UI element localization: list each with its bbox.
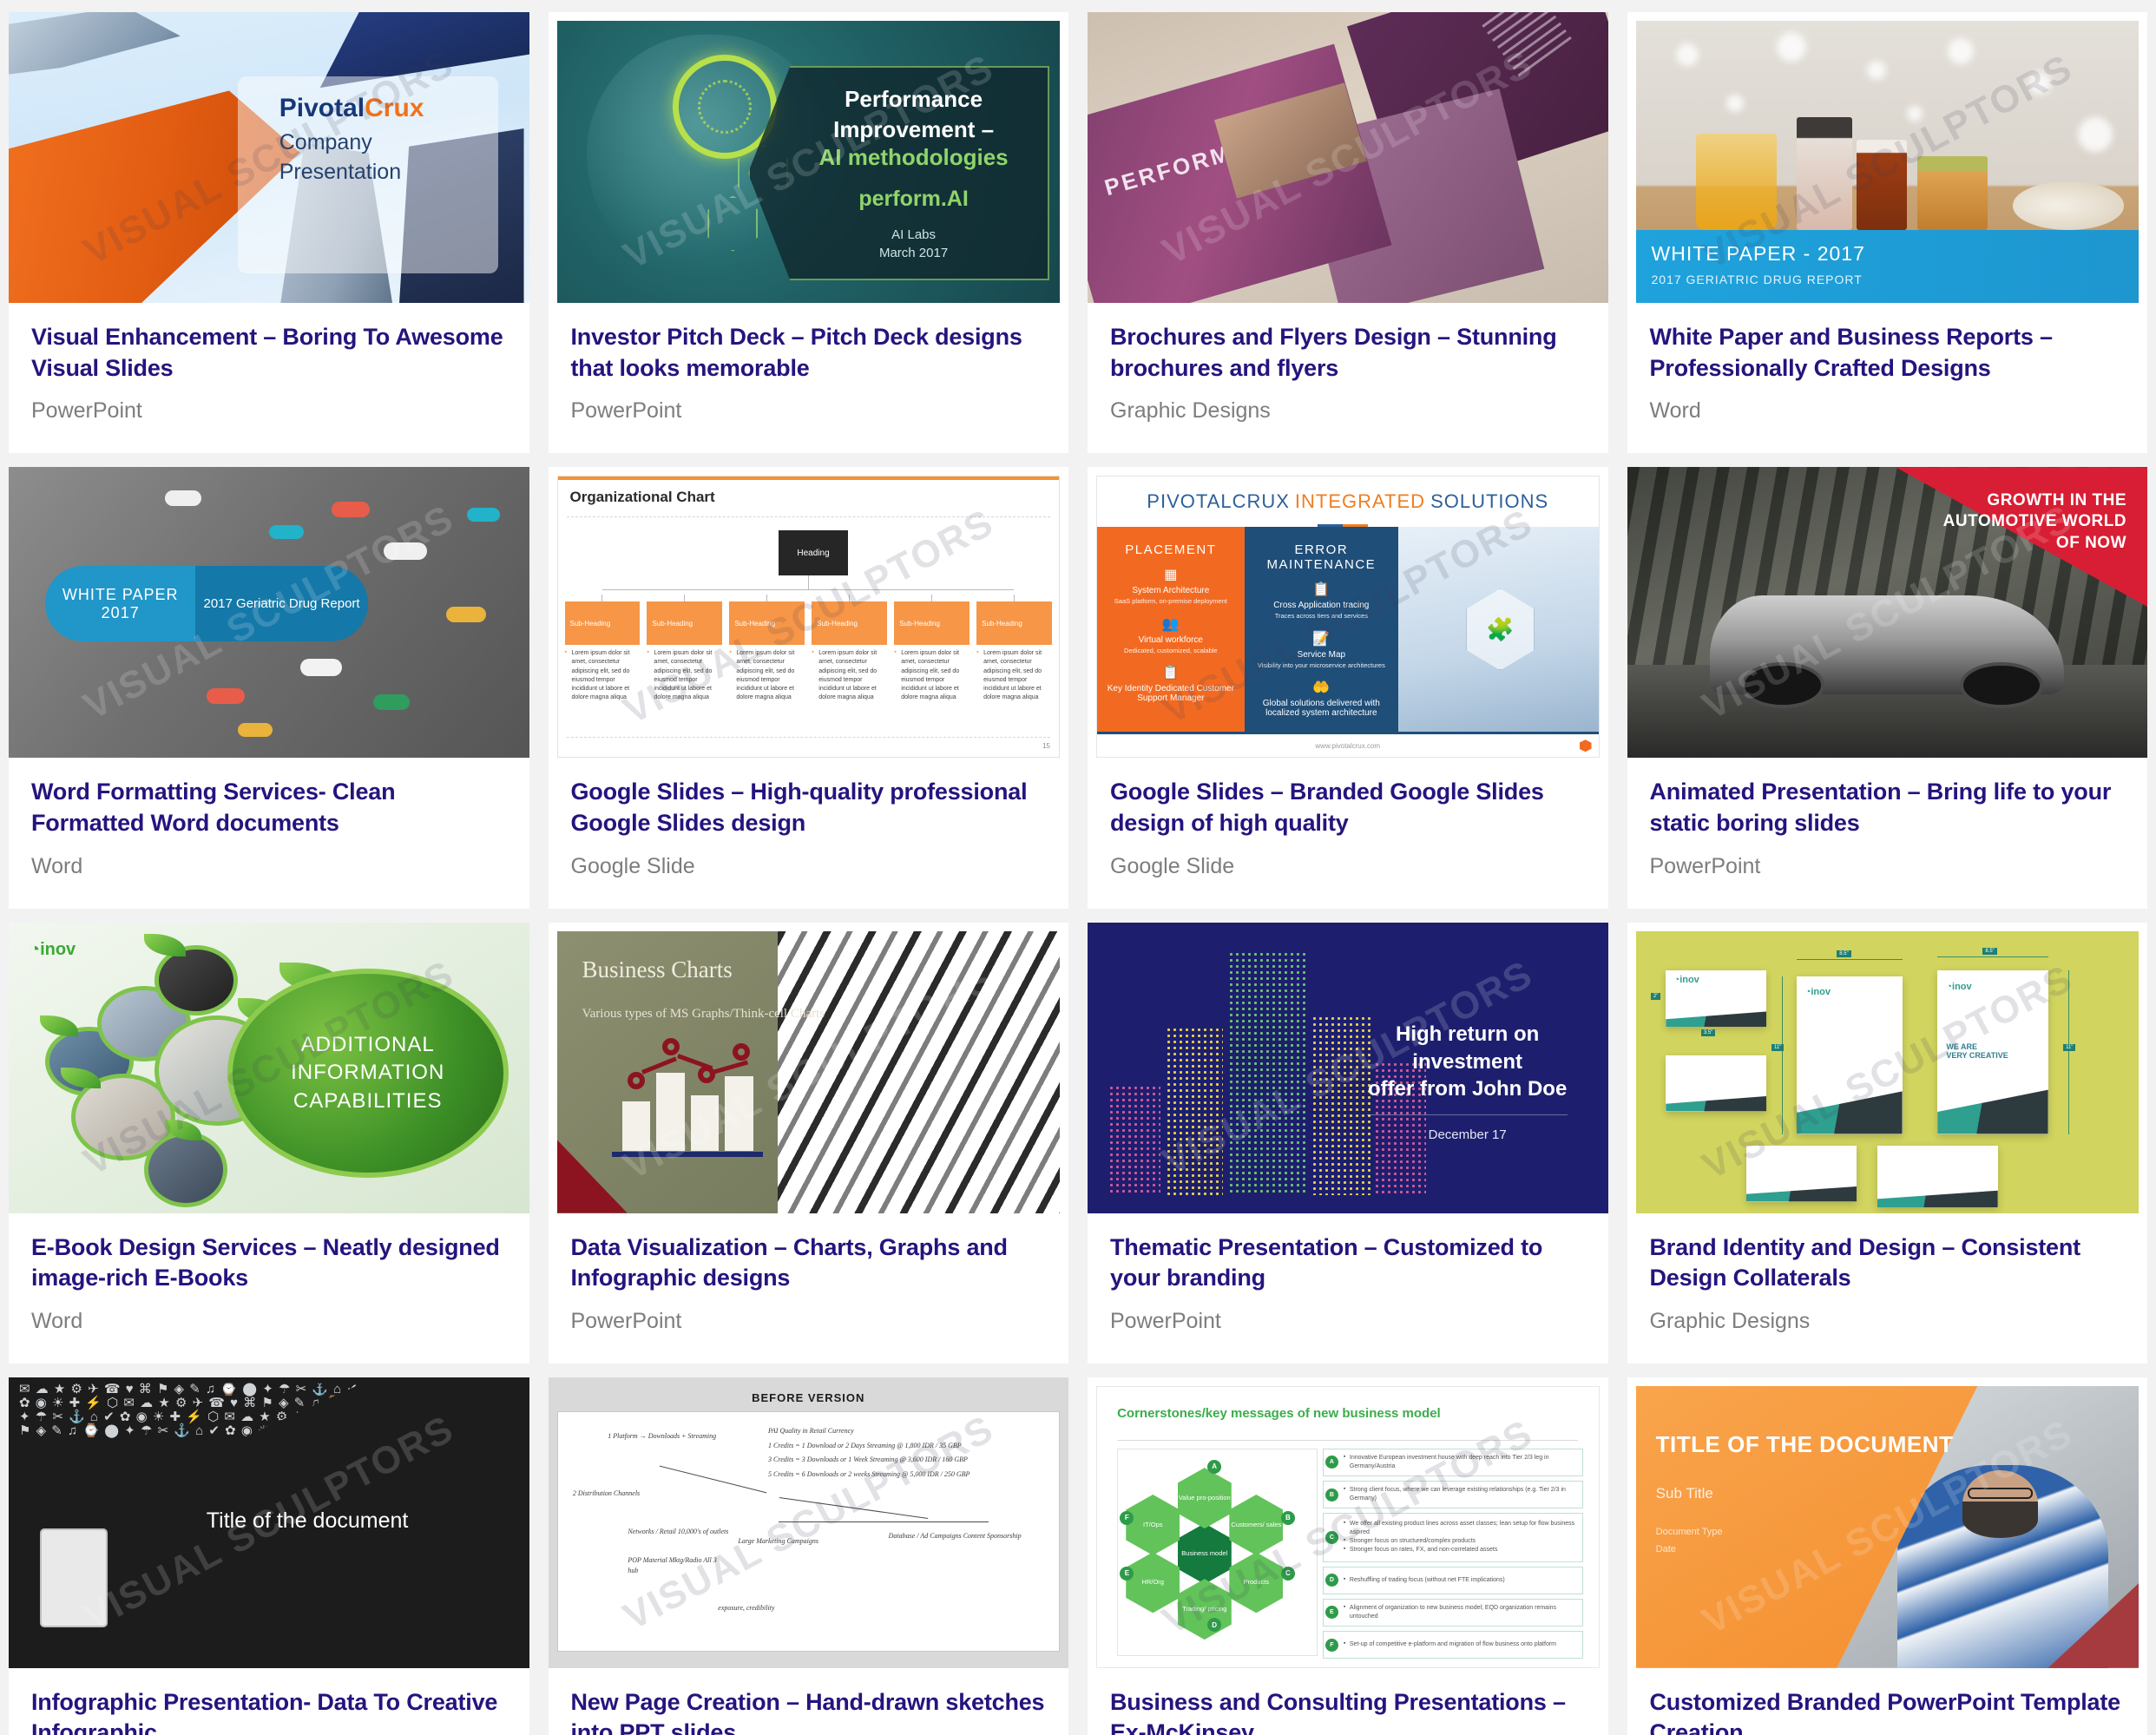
brand-word-1: PIVOTALCRUX bbox=[1147, 490, 1290, 513]
card-subtitle: PowerPoint bbox=[1650, 854, 2126, 879]
business-charts-title: Business Charts bbox=[582, 956, 732, 983]
org-chart-sub-node: Sub-Heading bbox=[647, 601, 722, 645]
org-chart-stem bbox=[808, 575, 809, 589]
card-title[interactable]: New Page Creation – Hand-drawn sketches … bbox=[571, 1687, 1047, 1735]
hex-products: Products bbox=[1229, 1552, 1283, 1613]
capabilities-line2: INFORMATION bbox=[291, 1059, 444, 1087]
service-card[interactable]: ◔inov ADDITIONAL INFORMATION CAPABILITIE… bbox=[9, 923, 529, 1364]
dimension-label: 11" bbox=[2063, 1044, 2075, 1051]
inov-logo-text: inov bbox=[1952, 982, 1972, 992]
inov-logo: ◔inov bbox=[30, 940, 76, 960]
row-text: Strong client focus, where we can levera… bbox=[1344, 1486, 1577, 1503]
handwritten-note: 3 Credits = 3 Downloads or 1 Week Stream… bbox=[768, 1455, 1029, 1465]
placement-item: 👥Virtual workforceDedicated, customized,… bbox=[1104, 615, 1238, 655]
capabilities-circle: ADDITIONAL INFORMATION CAPABILITIES bbox=[227, 969, 509, 1178]
envelope-mockup bbox=[1746, 1146, 1857, 1202]
card-subtitle: PowerPoint bbox=[571, 1309, 1047, 1334]
pitch-footer-lab: AI Labs bbox=[879, 226, 948, 244]
line-chart-node bbox=[628, 1072, 645, 1089]
cover-headline: WE ARE VERY CREATIVE bbox=[1946, 1042, 2008, 1060]
brochure-cover-mockup: ◔inov WE ARE VERY CREATIVE bbox=[1937, 970, 2048, 1134]
thumbnail-google-slides-org-chart[interactable]: Organizational Chart Heading Sub-Heading… bbox=[549, 467, 1069, 758]
service-card[interactable]: High return on investment offer from Joh… bbox=[1088, 923, 1608, 1364]
card-meta: Investor Pitch Deck – Pitch Deck designs… bbox=[549, 303, 1069, 453]
row-text: Set-up of competitive e-platform and mig… bbox=[1344, 1640, 1556, 1649]
org-chart-sub-node: Sub-Heading bbox=[729, 601, 805, 645]
placement-item-desc: SaaS platform, on-premise deployment bbox=[1104, 597, 1238, 606]
hex-customers-sales: Customers/ sales bbox=[1229, 1495, 1283, 1555]
org-chart-body: Lorem ipsum dolor sit amet, consectetur … bbox=[729, 649, 805, 702]
glass-decor bbox=[1696, 134, 1777, 230]
slide-footer: www.pivotalcrux.com bbox=[1097, 732, 1599, 757]
card-subtitle: Word bbox=[1650, 398, 2126, 424]
pitch-line1: Performance bbox=[845, 84, 983, 115]
business-card-mockup: ◔inov bbox=[1666, 970, 1766, 1027]
thumbnail-business-consulting[interactable]: Cornerstones/key messages of new busines… bbox=[1088, 1377, 1608, 1668]
diagonal-stripes-decor bbox=[778, 931, 1060, 1213]
capabilities-line1: ADDITIONAL bbox=[291, 1031, 444, 1059]
row-bullet: Set-up of competitive e-platform and mig… bbox=[1344, 1640, 1556, 1649]
service-card[interactable]: TITLE OF THE DOCUMENT Sub Title Document… bbox=[1627, 1377, 2148, 1735]
row-text: Reshuffling of trading focus (without ne… bbox=[1344, 1576, 1505, 1585]
inov-logo-text: inov bbox=[40, 940, 76, 959]
card-title[interactable]: Visual Enhancement – Boring To Awesome V… bbox=[31, 322, 507, 384]
thematic-caption: High return on investment offer from Joh… bbox=[1348, 1021, 1587, 1142]
capabilities-caption: ADDITIONAL INFORMATION CAPABILITIES bbox=[291, 1031, 444, 1115]
inov-logo: ◔inov bbox=[1674, 975, 1699, 985]
thumbnail-investor-pitch-deck[interactable]: Performance Improvement – AI methodologi… bbox=[549, 12, 1069, 303]
business-card-mockup-back bbox=[1666, 1055, 1766, 1112]
pill-decor bbox=[300, 659, 342, 676]
placement-item-title: Key Identity Dedicated Customer Support … bbox=[1104, 684, 1238, 703]
pixel-building-pink bbox=[1108, 1085, 1160, 1195]
card-title[interactable]: Investor Pitch Deck – Pitch Deck designs… bbox=[571, 322, 1047, 384]
white-paper-band-title: WHITE PAPER - 2017 bbox=[1652, 242, 2124, 266]
line-chart-node bbox=[733, 1043, 750, 1061]
divider bbox=[1367, 1114, 1568, 1115]
card-title[interactable]: White Paper and Business Reports – Profe… bbox=[1650, 322, 2126, 384]
service-card[interactable]: WHITE PAPER - 2017 2017 GERIATRIC DRUG R… bbox=[1627, 12, 2148, 453]
thumbnail-branded-google-slides[interactable]: PIVOTALCRUX INTEGRATED SOLUTIONS PLACEME… bbox=[1088, 467, 1608, 758]
thumbnail-thematic-presentation[interactable]: High return on investment offer from Joh… bbox=[1088, 923, 1608, 1213]
growth-banner-text: GROWTH IN THE AUTOMOTIVE WORLD OF NOW bbox=[1856, 490, 2126, 554]
thematic-line1: High return on investment bbox=[1348, 1021, 1587, 1075]
divider bbox=[567, 737, 1051, 738]
inov-logo-text: inov bbox=[1811, 987, 1831, 997]
row-bullet: Strong client focus, where we can levera… bbox=[1344, 1486, 1577, 1503]
pitch-footer: AI Labs March 2017 bbox=[879, 226, 948, 262]
dimension-label: 11" bbox=[1771, 1044, 1784, 1051]
card-meta: Customized Branded PowerPoint Template C… bbox=[1627, 1668, 2148, 1735]
people-icon: 👥 bbox=[1104, 615, 1238, 633]
service-card[interactable]: Organizational Chart Heading Sub-Heading… bbox=[549, 467, 1069, 908]
card-subtitle: Graphic Designs bbox=[1110, 398, 1586, 424]
logo-text-crux: Crux bbox=[365, 94, 424, 122]
handwritten-note: Large Marketing Campaigns bbox=[738, 1536, 858, 1547]
hands-heart-icon: 🤲 bbox=[1252, 679, 1391, 696]
before-version-header: BEFORE VERSION bbox=[557, 1391, 1061, 1404]
row-text: Innovative European investment house wit… bbox=[1344, 1454, 1577, 1471]
maintenance-item: 🤲Global solutions delivered with localiz… bbox=[1252, 679, 1391, 718]
pill-decor bbox=[446, 607, 486, 622]
photo-bubble bbox=[154, 945, 238, 1015]
bokeh-decor bbox=[1867, 61, 1886, 80]
org-chart-body: Lorem ipsum dolor sit amet, consectetur … bbox=[894, 649, 970, 702]
hexagon-cluster: Business model Value pro-position Custom… bbox=[1117, 1449, 1318, 1656]
garlic-decor bbox=[2013, 181, 2123, 229]
dimension-line bbox=[1797, 959, 1903, 960]
dimension-label: 8.5" bbox=[1837, 950, 1850, 957]
puzzle-icon: 🧩 bbox=[1486, 616, 1514, 643]
hex-core: Business model bbox=[1178, 1523, 1232, 1584]
slide-caption-line1: Company bbox=[279, 128, 401, 158]
leaf-decor bbox=[144, 934, 186, 956]
services-card-grid: PivotalCrux Company Presentation VISUAL … bbox=[0, 0, 2156, 1735]
message-row: CWe offer all existing product lines acr… bbox=[1323, 1513, 1583, 1561]
card-title[interactable]: Business and Consulting Presentations – … bbox=[1110, 1687, 1586, 1735]
bokeh-decor bbox=[1948, 38, 1974, 64]
service-card[interactable]: Performance Improvement – AI methodologi… bbox=[549, 12, 1069, 453]
bokeh-decor bbox=[2028, 72, 2051, 95]
handwritten-connector bbox=[779, 1521, 989, 1522]
thumbnail-new-page-creation[interactable]: BEFORE VERSION 1 Platform → Downloads + … bbox=[549, 1377, 1069, 1668]
row-badge: E bbox=[1325, 1606, 1338, 1619]
card-subtitle: Google Slide bbox=[571, 854, 1047, 879]
hex-badge: B bbox=[1281, 1511, 1295, 1525]
card-title[interactable]: Data Visualization – Charts, Graphs and … bbox=[571, 1232, 1047, 1294]
service-card[interactable]: PERFORMANCE VISUAL SCULPTORS Brochures a… bbox=[1088, 12, 1608, 453]
pill-decor bbox=[269, 525, 304, 539]
bokeh-decor bbox=[1907, 106, 1923, 122]
card-meta: Word Formatting Services- Clean Formatte… bbox=[9, 758, 529, 908]
bokeh-decor bbox=[2078, 117, 2113, 152]
org-chart-column: Sub-HeadingLorem ipsum dolor sit amet, c… bbox=[894, 595, 970, 702]
card-meta: Visual Enhancement – Boring To Awesome V… bbox=[9, 303, 529, 453]
hex-badge: A bbox=[1207, 1460, 1221, 1474]
card-meta: Thematic Presentation – Customized to yo… bbox=[1088, 1213, 1608, 1364]
org-chart-sub-node: Sub-Heading bbox=[894, 601, 970, 645]
row-text: We offer all existing product lines acro… bbox=[1344, 1520, 1577, 1555]
handwritten-sheet: 1 Platform → Downloads + Streaming PAI Q… bbox=[557, 1411, 1061, 1652]
card-subtitle: PowerPoint bbox=[571, 398, 1047, 424]
pill-decor bbox=[207, 688, 245, 704]
pill-decor bbox=[373, 694, 410, 710]
infographic-title: Title of the document bbox=[207, 1508, 409, 1534]
service-card[interactable]: Cornerstones/key messages of new busines… bbox=[1088, 1377, 1608, 1735]
card-subtitle: Google Slide bbox=[1110, 854, 1586, 879]
bottle-decor bbox=[1857, 140, 1907, 230]
handwritten-note: PAI Quality in Retail Currency bbox=[768, 1426, 898, 1436]
maintenance-item: 📋Cross Application tracingTraces across … bbox=[1252, 581, 1391, 621]
handwritten-note: 1 Platform → Downloads + Streaming bbox=[608, 1431, 748, 1442]
handwritten-connector bbox=[660, 1465, 767, 1493]
bottle-decor bbox=[1797, 117, 1852, 230]
row-bullet: Alignment of organization to new busines… bbox=[1344, 1604, 1577, 1621]
placement-item: ▦System ArchitectureSaaS platform, on-pr… bbox=[1104, 566, 1238, 606]
dimension-label: 3.5" bbox=[1701, 1029, 1715, 1036]
badge-right: 2017 Geriatric Drug Report bbox=[195, 566, 367, 641]
hexagon-badge: 🧩 bbox=[1466, 588, 1534, 670]
thumbnail-infographic-presentation[interactable]: ✉ ☁ ★ ⚙ ✈ ☎ ♥ ⌘ ⚑ ◈ ✎ ♫ ⌚ ⬤ ✦ ☂ ✂ ⚓ ⌂ ✔ … bbox=[9, 1377, 529, 1668]
org-chart-sub-node: Sub-Heading bbox=[565, 601, 641, 645]
row-badge: A bbox=[1325, 1456, 1338, 1469]
card-title[interactable]: Animated Presentation – Bring life to yo… bbox=[1650, 777, 2126, 838]
service-card[interactable]: PivotalCrux Company Presentation VISUAL … bbox=[9, 12, 529, 453]
error-maintenance-panel: ERROR MAINTENANCE 📋Cross Application tra… bbox=[1245, 527, 1398, 732]
placement-heading: PLACEMENT bbox=[1104, 542, 1238, 557]
perform-ai-brand: perform.AI bbox=[858, 187, 968, 212]
inov-logo: ◔inov bbox=[1946, 982, 1971, 992]
document-type-label: Document Type bbox=[1656, 1524, 1723, 1541]
service-card[interactable]: WHITE PAPER 2017 2017 Geriatric Drug Rep… bbox=[9, 467, 529, 908]
slide-body: PLACEMENT ▦System ArchitectureSaaS platf… bbox=[1097, 527, 1599, 732]
inov-logo: ◔inov bbox=[1805, 987, 1831, 997]
hex-hr-org: HR/Org bbox=[1126, 1552, 1180, 1613]
thematic-line2: offer from John Doe bbox=[1348, 1075, 1587, 1102]
row-badge: D bbox=[1325, 1574, 1338, 1587]
service-card[interactable]: ◔inov ◔inov ◔inov WE ARE VERY CREATIVE bbox=[1627, 923, 2148, 1364]
placement-item-title: Virtual workforce bbox=[1104, 635, 1238, 645]
cornerstones-title: Cornerstones/key messages of new busines… bbox=[1117, 1406, 1441, 1421]
card-title[interactable]: Brochures and Flyers Design – Stunning b… bbox=[1110, 322, 1586, 384]
dimension-line bbox=[1937, 956, 2048, 957]
thumbnail-white-paper[interactable]: WHITE PAPER - 2017 2017 GERIATRIC DRUG R… bbox=[1627, 12, 2148, 303]
pitch-line3: AI methodologies bbox=[819, 144, 1009, 171]
message-row: FSet-up of competitive e-platform and mi… bbox=[1323, 1631, 1583, 1659]
maintenance-item-desc: Visibility into your microservice archit… bbox=[1252, 661, 1391, 670]
letterhead-mockup: ◔inov bbox=[1797, 976, 1903, 1134]
capabilities-line3: CAPABILITIES bbox=[291, 1088, 444, 1115]
brand-word-2: INTEGRATED bbox=[1295, 490, 1425, 513]
dimension-label: 2" bbox=[1651, 993, 1660, 1000]
growth-line2: AUTOMOTIVE WORLD bbox=[1856, 511, 2126, 532]
row-bullet: We offer all existing product lines acro… bbox=[1344, 1520, 1577, 1537]
message-row: BStrong client focus, where we can lever… bbox=[1323, 1481, 1583, 1508]
smartphone-decor bbox=[40, 1528, 108, 1627]
growth-line1: GROWTH IN THE bbox=[1856, 490, 2126, 511]
pill-decor bbox=[384, 542, 427, 560]
row-bullet: Innovative European investment house wit… bbox=[1344, 1454, 1577, 1471]
card-title[interactable]: E-Book Design Services – Neatly designed… bbox=[31, 1232, 507, 1294]
message-row: EAlignment of organization to new busine… bbox=[1323, 1599, 1583, 1627]
card-subtitle: PowerPoint bbox=[1110, 1309, 1586, 1334]
thumbnail-data-visualization[interactable]: Business Charts Various types of MS Grap… bbox=[549, 923, 1069, 1213]
handwritten-note: 2 Distribution Channels bbox=[573, 1489, 663, 1499]
document-title: TITLE OF THE DOCUMENT bbox=[1656, 1431, 1954, 1458]
growth-line3: OF NOW bbox=[1856, 533, 2126, 554]
placement-item-title: System Architecture bbox=[1104, 586, 1238, 595]
card-meta: E-Book Design Services – Neatly designed… bbox=[9, 1213, 529, 1364]
handwritten-note: POP Material Mktg/Radio All 3 hub bbox=[628, 1555, 728, 1576]
org-chart-column: Sub-HeadingLorem ipsum dolor sit amet, c… bbox=[565, 595, 641, 702]
service-card[interactable]: Business Charts Various types of MS Grap… bbox=[549, 923, 1069, 1364]
card-meta: Brochures and Flyers Design – Stunning b… bbox=[1088, 303, 1608, 453]
org-chart-column: Sub-HeadingLorem ipsum dolor sit amet, c… bbox=[976, 595, 1052, 702]
jar-decor bbox=[1917, 156, 1988, 230]
clipboard-icon: 📋 bbox=[1104, 664, 1238, 681]
document-metadata: Document Type Date bbox=[1656, 1524, 1723, 1559]
cover-line2: VERY CREATIVE bbox=[1946, 1051, 2008, 1060]
slide-caption: Company Presentation bbox=[279, 128, 401, 187]
card-subtitle: PowerPoint bbox=[31, 398, 507, 424]
chart-baseline bbox=[612, 1152, 763, 1157]
dimension-label: 8.5" bbox=[1982, 948, 1996, 955]
pill-decor bbox=[467, 508, 500, 522]
pill-decor bbox=[332, 502, 370, 517]
leaf-decor bbox=[40, 1015, 78, 1036]
org-chart-sub-node: Sub-Heading bbox=[976, 601, 1052, 645]
handwritten-note: 5 Credits = 6 Downloads or 2 weeks Strea… bbox=[768, 1469, 1029, 1480]
card-meta: Business and Consulting Presentations – … bbox=[1088, 1668, 1608, 1735]
badge-label-year: 2017 bbox=[102, 604, 140, 622]
white-paper-band-subtitle: 2017 GERIATRIC DRUG REPORT bbox=[1652, 273, 2124, 286]
org-chart-body: Lorem ipsum dolor sit amet, consectetur … bbox=[647, 649, 722, 702]
badge-label-whitepaper: WHITE PAPER bbox=[62, 586, 179, 604]
edit-document-icon: 📝 bbox=[1252, 630, 1391, 647]
ai-hexagon-panel: Performance Improvement – AI methodologi… bbox=[748, 66, 1050, 280]
divider bbox=[1117, 1440, 1578, 1441]
thumbnail-brand-identity[interactable]: ◔inov ◔inov ◔inov WE ARE VERY CREATIVE bbox=[1627, 923, 2148, 1213]
org-chart-root-node: Heading bbox=[779, 530, 849, 575]
building-image-panel: 🧩 bbox=[1398, 527, 1599, 732]
card-meta: Animated Presentation – Bring life to yo… bbox=[1627, 758, 2148, 908]
person-beard-decor bbox=[1962, 1502, 2038, 1538]
card-title[interactable]: Customized Branded PowerPoint Template C… bbox=[1650, 1687, 2126, 1735]
maintenance-item-title: Cross Application tracing bbox=[1252, 601, 1391, 610]
grid-icon: ▦ bbox=[1104, 566, 1238, 583]
logo-text-pivotal: Pivotal bbox=[279, 94, 365, 122]
document-subtitle: Sub Title bbox=[1656, 1485, 1713, 1502]
card-subtitle: Word bbox=[31, 854, 507, 879]
org-chart-columns: Sub-HeadingLorem ipsum dolor sit amet, c… bbox=[565, 595, 1053, 702]
card-title[interactable]: Google Slides – Branded Google Slides de… bbox=[1110, 777, 1586, 838]
slide-header: PIVOTALCRUX INTEGRATED SOLUTIONS bbox=[1097, 476, 1599, 527]
card-meta: Google Slides – High-quality professiona… bbox=[549, 758, 1069, 908]
row-badge: F bbox=[1325, 1639, 1338, 1652]
handwritten-note: 1 Credits = 1 Download or 2 Days Streami… bbox=[768, 1441, 1029, 1451]
service-card[interactable]: ✉ ☁ ★ ⚙ ✈ ☎ ♥ ⌘ ⚑ ◈ ✎ ♫ ⌚ ⬤ ✦ ☂ ✂ ⚓ ⌂ ✔ … bbox=[9, 1377, 529, 1735]
maintenance-item-title: Global solutions delivered with localize… bbox=[1252, 699, 1391, 718]
building-left-decor bbox=[9, 12, 181, 105]
card-meta: New Page Creation – Hand-drawn sketches … bbox=[549, 1668, 1069, 1735]
car-wheel-front bbox=[1741, 662, 1824, 709]
bokeh-decor bbox=[1777, 32, 1806, 62]
pitch-line2: Improvement – bbox=[833, 115, 994, 145]
bokeh-decor bbox=[1676, 43, 1699, 66]
brand-word-3: SOLUTIONS bbox=[1430, 490, 1548, 513]
pitch-footer-date: March 2017 bbox=[879, 244, 948, 262]
bokeh-decor bbox=[1726, 95, 1744, 112]
card-title[interactable]: Infographic Presentation- Data To Creati… bbox=[31, 1687, 507, 1735]
service-card[interactable]: GROWTH IN THE AUTOMOTIVE WORLD OF NOW VI… bbox=[1627, 467, 2148, 908]
error-maintenance-heading: ERROR MAINTENANCE bbox=[1252, 542, 1391, 572]
dimension-line bbox=[2068, 970, 2069, 1134]
pixel-building-yellow bbox=[1166, 1027, 1223, 1195]
org-chart-horizontal-connector bbox=[602, 589, 1014, 590]
card-meta: Brand Identity and Design – Consistent D… bbox=[1627, 1213, 2148, 1364]
org-chart-body: Lorem ipsum dolor sit amet, consectetur … bbox=[565, 649, 641, 702]
cover-line1: WE ARE bbox=[1946, 1042, 2008, 1051]
dimension-line bbox=[1782, 976, 1783, 1134]
row-badge: B bbox=[1325, 1489, 1338, 1502]
thematic-date: December 17 bbox=[1348, 1127, 1587, 1142]
handwritten-note: exposure, credibility bbox=[718, 1603, 838, 1613]
document-date-label: Date bbox=[1656, 1541, 1723, 1559]
divider bbox=[567, 516, 1051, 517]
placement-panel: PLACEMENT ▦System ArchitectureSaaS platf… bbox=[1097, 527, 1245, 732]
thumbnail-ebook-design[interactable]: ◔inov ADDITIONAL INFORMATION CAPABILITIE… bbox=[9, 923, 529, 1213]
orange-top-bar bbox=[558, 476, 1060, 480]
message-row: AInnovative European investment house wi… bbox=[1323, 1449, 1583, 1476]
org-chart-column: Sub-HeadingLorem ipsum dolor sit amet, c… bbox=[729, 595, 805, 702]
handwritten-note: Networks / Retail 10,000's of outlets bbox=[628, 1527, 738, 1537]
thumbnail-visual-enhancement[interactable]: PivotalCrux Company Presentation VISUAL … bbox=[9, 12, 529, 303]
handwritten-connector bbox=[779, 1497, 928, 1519]
row-bullet: Stronger focus on structured/complex pro… bbox=[1344, 1537, 1577, 1546]
photo-bubble bbox=[144, 1132, 227, 1207]
thumbnail-word-formatting[interactable]: WHITE PAPER 2017 2017 Geriatric Drug Rep… bbox=[9, 467, 529, 758]
card-meta: Infographic Presentation- Data To Creati… bbox=[9, 1668, 529, 1735]
maintenance-item: 📝Service MapVisibility into your microse… bbox=[1252, 630, 1391, 670]
folder-mockup bbox=[1877, 1146, 1998, 1208]
white-paper-badge: WHITE PAPER 2017 2017 Geriatric Drug Rep… bbox=[45, 566, 368, 641]
hex-trading-pricing: Trading/ pricing bbox=[1178, 1579, 1232, 1640]
thumbnail-animated-presentation[interactable]: GROWTH IN THE AUTOMOTIVE WORLD OF NOW VI… bbox=[1627, 467, 2148, 758]
handwritten-note: Database / Ad Campaigns Content Sponsors… bbox=[889, 1531, 1029, 1541]
business-charts-subtitle: Various types of MS Graphs/Think-cell Ch… bbox=[582, 1007, 825, 1022]
thumbnail-brochures-flyers[interactable]: PERFORMANCE VISUAL SCULPTORS bbox=[1088, 12, 1608, 303]
row-bullet: Stronger focus on rates, FX, and non-cor… bbox=[1344, 1546, 1577, 1554]
car-wheel-rear bbox=[1960, 662, 2043, 709]
card-meta: Google Slides – Branded Google Slides de… bbox=[1088, 758, 1608, 908]
hex-badge: C bbox=[1281, 1567, 1295, 1581]
card-title[interactable]: Google Slides – High-quality professiona… bbox=[571, 777, 1047, 838]
maintenance-item-desc: Traces across tiers and services bbox=[1252, 612, 1391, 621]
row-badge: C bbox=[1325, 1531, 1338, 1544]
clipboard-icon: 📋 bbox=[1252, 581, 1391, 598]
message-row: DReshuffling of trading focus (without n… bbox=[1323, 1567, 1583, 1594]
slide-page-number: 15 bbox=[1042, 742, 1050, 750]
glasses-icon bbox=[1968, 1488, 2033, 1499]
pill-decor bbox=[165, 490, 201, 506]
hex-value-proposition: Value pro-position bbox=[1178, 1468, 1232, 1528]
card-subtitle: Word bbox=[31, 1309, 507, 1334]
service-card[interactable]: PIVOTALCRUX INTEGRATED SOLUTIONS PLACEME… bbox=[1088, 467, 1608, 908]
org-chart-body: Lorem ipsum dolor sit amet, consectetur … bbox=[812, 649, 887, 702]
maintenance-item-title: Service Map bbox=[1252, 650, 1391, 660]
inov-logo-text: inov bbox=[1679, 975, 1699, 985]
card-subtitle: Graphic Designs bbox=[1650, 1309, 2126, 1334]
org-chart-body: Lorem ipsum dolor sit amet, consectetur … bbox=[976, 649, 1052, 702]
white-paper-band: WHITE PAPER - 2017 2017 GERIATRIC DRUG R… bbox=[1636, 230, 2140, 304]
badge-label-report: 2017 Geriatric Drug Report bbox=[204, 595, 360, 613]
org-chart-title: Organizational Chart bbox=[570, 489, 715, 506]
org-chart-sub-node: Sub-Heading bbox=[812, 601, 887, 645]
placement-item-desc: Dedicated, customized, scalable bbox=[1104, 647, 1238, 655]
badge-left: WHITE PAPER 2017 bbox=[45, 566, 196, 641]
card-meta: White Paper and Business Reports – Profe… bbox=[1627, 303, 2148, 453]
card-title[interactable]: Brand Identity and Design – Consistent D… bbox=[1650, 1232, 2126, 1294]
org-chart-column: Sub-HeadingLorem ipsum dolor sit amet, c… bbox=[812, 595, 887, 702]
card-title[interactable]: Thematic Presentation – Customized to yo… bbox=[1110, 1232, 1586, 1294]
pill-decor bbox=[238, 723, 273, 737]
row-text: Alignment of organization to new busines… bbox=[1344, 1604, 1577, 1621]
service-card[interactable]: BEFORE VERSION 1 Platform → Downloads + … bbox=[549, 1377, 1069, 1735]
row-bullet: Reshuffling of trading focus (without ne… bbox=[1344, 1576, 1505, 1585]
card-title[interactable]: Word Formatting Services- Clean Formatte… bbox=[31, 777, 507, 838]
card-meta: Data Visualization – Charts, Graphs and … bbox=[549, 1213, 1069, 1364]
thumbnail-customized-template[interactable]: TITLE OF THE DOCUMENT Sub Title Document… bbox=[1627, 1377, 2148, 1668]
